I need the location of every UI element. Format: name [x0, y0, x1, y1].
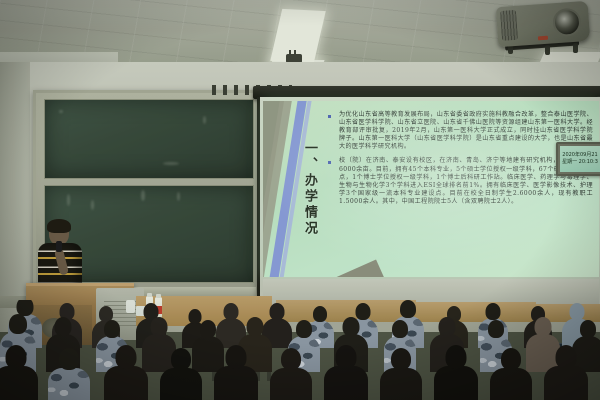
audience-member: [380, 348, 422, 400]
audience-head: [116, 345, 137, 369]
audience-body: [48, 368, 90, 400]
audience-head: [343, 317, 360, 336]
audience-member: [434, 345, 478, 400]
audience-head: [336, 345, 357, 369]
clock-date: 2020年09月21: [562, 152, 597, 159]
audience-member: [160, 348, 202, 400]
audience-body: [214, 366, 258, 400]
audience-body: [104, 366, 148, 400]
lecture-hall-photo: 一、办学情况 为优化山东省高等教育发展布局，山东省委省政府实施科教融合改革，整合…: [0, 0, 600, 400]
projection-screen: 一、办学情况 为优化山东省高等教育发展布局，山东省委省政府实施科教融合改革，整合…: [257, 97, 600, 312]
audience-head: [226, 345, 247, 369]
slide-bullet-text: 校（院）在济南、泰安设有校区，在济南、青岛、济宁等地建有研究机构，总占地面积60…: [339, 157, 593, 206]
slide-bullet-text: 为优化山东省高等教育发展布局，山东省委省政府实施科教融合改革，整合泰山医学院、山…: [339, 111, 593, 151]
audience-head: [446, 345, 467, 369]
presenter: [36, 221, 84, 291]
clock-time: 星期一 20:10:3: [562, 159, 598, 166]
audience-head: [247, 317, 264, 336]
audience-head: [6, 345, 27, 369]
audience-body: [0, 366, 38, 400]
audience-head: [171, 348, 191, 370]
audience-head: [200, 320, 216, 338]
audience-member: [544, 345, 588, 400]
audience-head: [501, 348, 521, 370]
audience-member: [490, 348, 532, 400]
audience-head: [486, 303, 501, 320]
audience-head: [535, 317, 552, 336]
audience-head: [281, 348, 301, 370]
projector-label: [538, 36, 548, 41]
microphone-icon: [56, 241, 62, 252]
bottle-cap-icon: [147, 293, 152, 297]
audience-head: [104, 320, 120, 338]
bullet-marker-icon: [328, 161, 331, 164]
bullet-marker-icon: [328, 115, 331, 118]
chalkboard-panel-upper: [44, 99, 254, 179]
audience-member: [0, 345, 38, 400]
audience-body: [490, 368, 532, 400]
audience-head: [400, 300, 416, 318]
audience-head: [59, 348, 79, 370]
audience-member: [104, 345, 148, 400]
audience-body: [160, 368, 202, 400]
presenter-hair: [47, 219, 71, 233]
audience-head: [580, 320, 596, 338]
audience-head: [9, 314, 27, 334]
projector-leg: [545, 45, 550, 55]
bottle-cap-icon: [156, 294, 161, 298]
presentation-slide: 一、办学情况 为优化山东省高等教育发展布局，山东省委省政府实施科教融合改革，整合…: [263, 101, 599, 277]
audience-body: [324, 366, 368, 400]
audience-head: [556, 345, 577, 369]
audience-member: [48, 348, 90, 400]
audience-head: [55, 317, 72, 336]
wall-clock: 2020年09月21 星期一 20:10:3: [556, 142, 600, 176]
audience-head: [570, 303, 585, 320]
audience-body: [270, 368, 312, 400]
slide-bullet-item: 校（院）在济南、泰安设有校区，在济南、青岛、济宁等地建有研究机构，总占地面积60…: [327, 157, 593, 206]
audience: [0, 300, 600, 400]
ceiling-projector: [496, 1, 591, 47]
projector-leg: [573, 43, 578, 53]
audience-member: [324, 345, 368, 400]
audience-body: [380, 368, 422, 400]
audience-member: [214, 345, 258, 400]
slide-bullet-item: 为优化山东省高等教育发展布局，山东省委省政府实施科教融合改革，整合泰山医学院、山…: [327, 111, 593, 151]
audience-head: [488, 320, 504, 338]
audience-head: [391, 348, 411, 370]
audience-head: [151, 317, 168, 336]
slide-section-title: 一、办学情况: [297, 141, 319, 237]
projector-lens-icon: [552, 7, 582, 37]
audience-body: [434, 366, 478, 400]
audience-body: [544, 366, 588, 400]
audience-head: [439, 317, 456, 336]
audience-head: [296, 320, 312, 338]
audience-head: [224, 303, 239, 320]
audience-head: [392, 320, 408, 338]
clock-display: 2020年09月21 星期一 20:10:3: [560, 146, 600, 172]
slide-bullet-list: 为优化山东省高等教育发展布局，山东省委省政府实施科教融合改革，整合泰山医学院、山…: [327, 111, 593, 212]
audience-member: [270, 348, 312, 400]
projector-vent-icon: [500, 10, 518, 41]
